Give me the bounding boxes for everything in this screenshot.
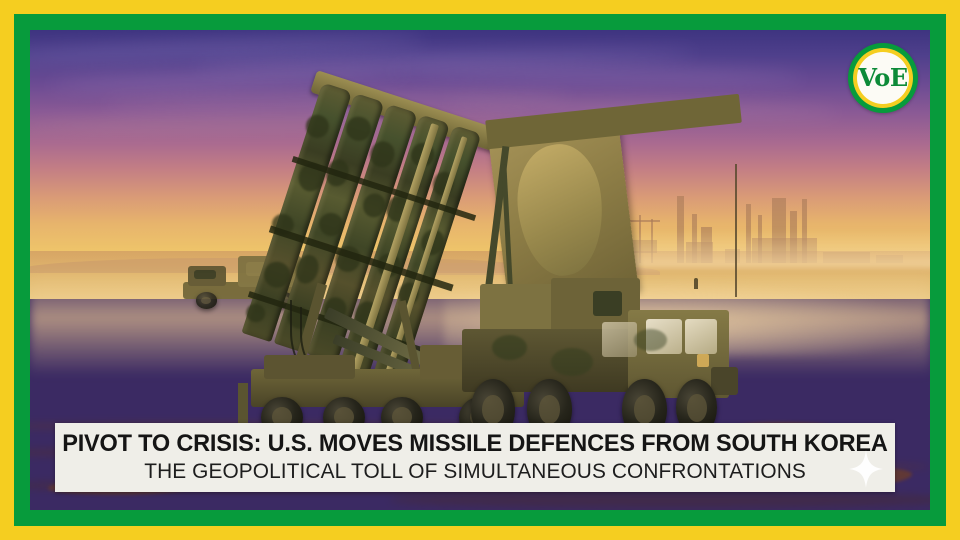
- radar-vehicle: [462, 126, 759, 443]
- brand-logo[interactable]: VoE: [848, 43, 918, 113]
- radar-dish: [511, 137, 609, 283]
- caption-panel: PIVOT TO CRISIS: U.S. MOVES MISSILE DEFE…: [55, 423, 895, 492]
- logo-text: VoE: [858, 66, 907, 90]
- missile-tube-pack: [242, 83, 496, 389]
- logo-face: VoE: [857, 52, 909, 104]
- logo-ring-inner: VoE: [853, 48, 913, 108]
- cloud-streak: [390, 64, 804, 85]
- headline: PIVOT TO CRISIS: U.S. MOVES MISSILE DEFE…: [62, 430, 888, 457]
- ground-band: [390, 492, 930, 507]
- news-card: VoE PIVOT TO CRISIS: U.S. MOVES MISSILE …: [0, 0, 960, 540]
- subheadline: THE GEOPOLITICAL TOLL OF SIMULTANEOUS CO…: [144, 459, 806, 485]
